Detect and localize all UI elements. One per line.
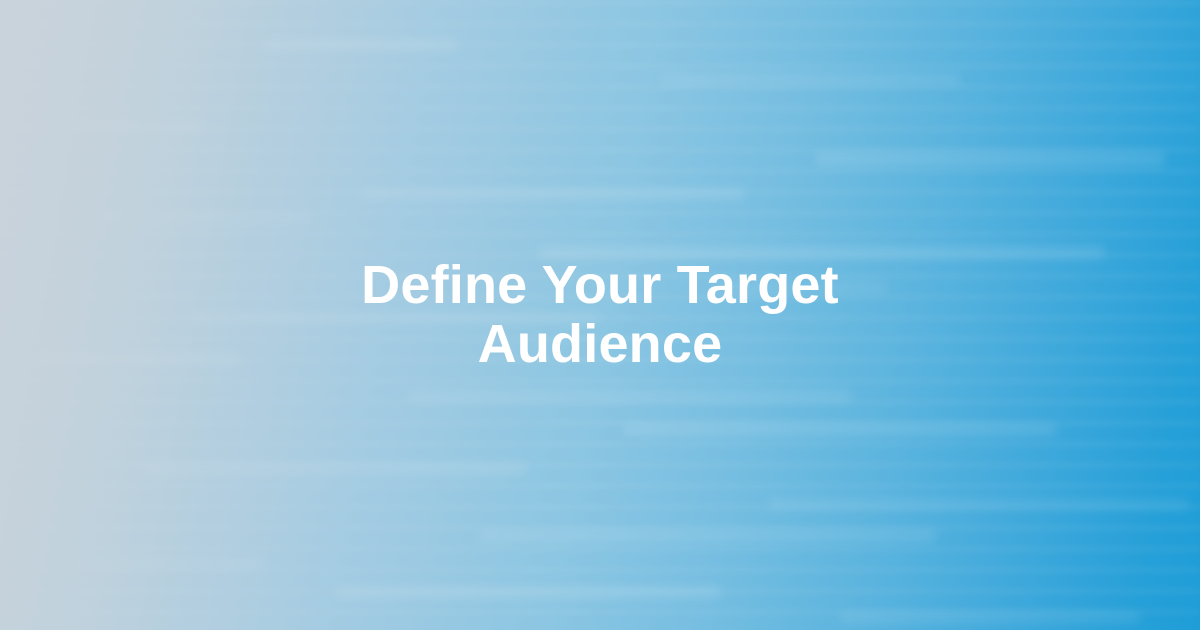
title-container: Define Your Target Audience [0,0,1200,630]
hero-banner: Define Your Target Audience [0,0,1200,630]
page-title: Define Your Target Audience [320,256,880,374]
